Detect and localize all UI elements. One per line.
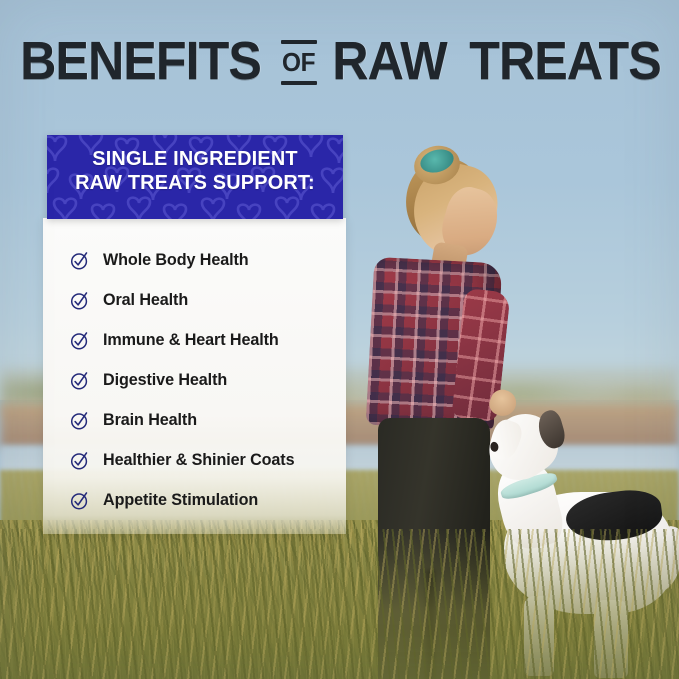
dog-figure: [478, 408, 678, 679]
check-circle-icon: [69, 250, 90, 271]
check-circle-icon: [69, 410, 90, 431]
check-circle-icon: [69, 330, 90, 351]
list-item-label: Digestive Health: [103, 370, 227, 390]
list-item-label: Healthier & Shinier Coats: [103, 450, 294, 470]
benefits-list: Whole Body Health Oral Health: [43, 240, 346, 520]
of-text: OF: [283, 47, 316, 78]
list-item-label: Immune & Heart Health: [103, 330, 279, 350]
list-item: Healthier & Shinier Coats: [69, 440, 346, 480]
dog-nose: [490, 441, 500, 452]
pant-leg-split: [426, 570, 435, 679]
panel-header: SINGLE INGREDIENT RAW TREATS SUPPORT:: [47, 135, 343, 219]
of-rule-top: [281, 40, 317, 44]
dog-front-leg: [524, 596, 554, 676]
page-title: BENEFITS OF RAW TREATS: [0, 36, 679, 88]
title-word-benefits: BENEFITS: [20, 36, 261, 88]
check-circle-icon: [69, 450, 90, 471]
check-circle-icon: [69, 290, 90, 311]
benefits-card: Whole Body Health Oral Health: [43, 218, 346, 534]
list-item: Immune & Heart Health: [69, 320, 346, 360]
list-item: Brain Health: [69, 400, 346, 440]
list-item: Oral Health: [69, 280, 346, 320]
list-item-label: Brain Health: [103, 410, 197, 430]
list-item: Digestive Health: [69, 360, 346, 400]
title-word-treats: TREATS: [469, 36, 661, 88]
list-item-label: Appetite Stimulation: [103, 490, 258, 510]
check-circle-icon: [69, 490, 90, 511]
panel-heading-line2: RAW TREATS SUPPORT:: [61, 171, 329, 195]
list-item: Whole Body Health: [69, 240, 346, 280]
of-rule-bottom: [281, 81, 317, 85]
check-circle-icon: [69, 370, 90, 391]
title-connector-of: OF: [281, 40, 317, 85]
list-item-label: Whole Body Health: [103, 250, 249, 270]
dog-ear: [535, 408, 569, 451]
dog-muzzle: [485, 417, 525, 464]
panel-heading-line1: SINGLE INGREDIENT: [61, 147, 329, 171]
list-item-label: Oral Health: [103, 290, 188, 310]
panel-heading: SINGLE INGREDIENT RAW TREATS SUPPORT:: [51, 135, 338, 195]
title-word-raw: RAW: [332, 36, 446, 88]
dog-hind-leg: [594, 600, 628, 678]
list-item: Appetite Stimulation: [69, 480, 346, 520]
poster-root: BENEFITS OF RAW TREATS Whole Body Health: [0, 0, 679, 679]
